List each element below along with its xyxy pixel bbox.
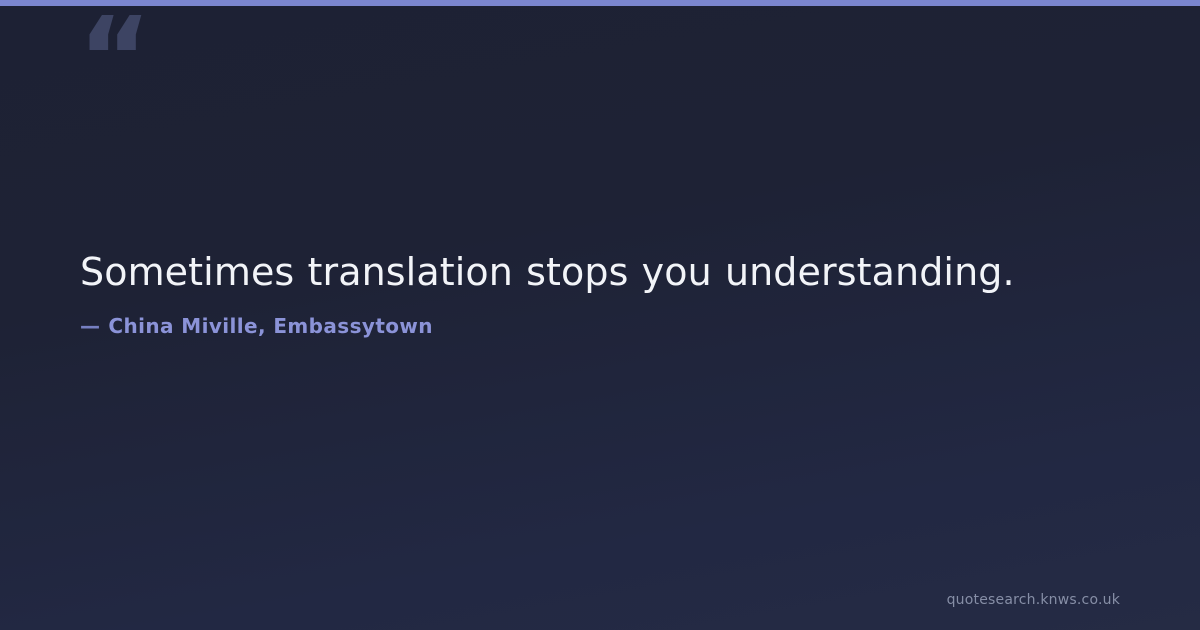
opening-quote-icon: “ bbox=[78, 4, 198, 114]
quote-attribution: —China Miville, Embassytown bbox=[80, 312, 1120, 340]
quote-card: “ Sometimes translation stops you unders… bbox=[0, 0, 1200, 630]
quote-text: Sometimes translation stops you understa… bbox=[80, 246, 1120, 298]
source-url: quotesearch.knws.co.uk bbox=[947, 592, 1120, 608]
quote-content: Sometimes translation stops you understa… bbox=[80, 246, 1120, 340]
attribution-label: China Miville, Embassytown bbox=[108, 314, 433, 338]
attribution-dash: — bbox=[80, 314, 100, 338]
